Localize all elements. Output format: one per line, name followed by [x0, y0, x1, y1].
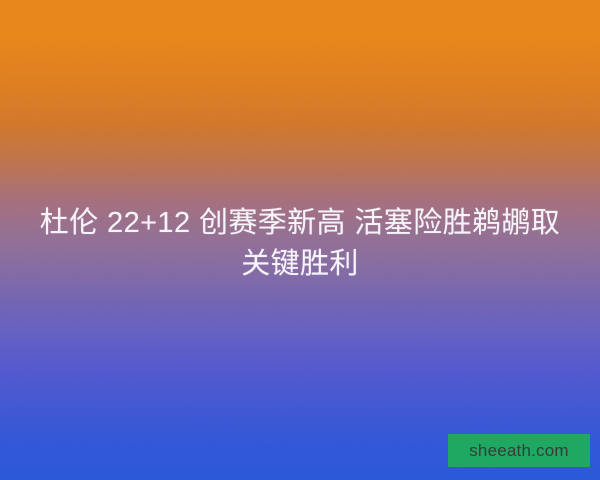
article-thumbnail-card: 杜伦 22+12 创赛季新高 活塞险胜鹈鹕取关键胜利 sheeath.com: [0, 0, 600, 480]
watermark-badge: sheeath.com: [448, 434, 590, 467]
watermark-label: sheeath.com: [469, 442, 569, 459]
headline-container: 杜伦 22+12 创赛季新高 活塞险胜鹈鹕取关键胜利: [0, 203, 600, 285]
page-title: 杜伦 22+12 创赛季新高 活塞险胜鹈鹕取关键胜利: [26, 203, 574, 285]
